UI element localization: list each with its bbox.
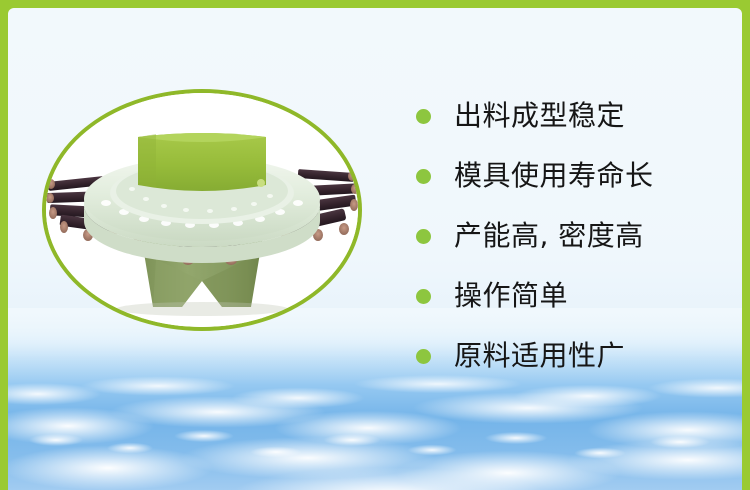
- product-photo: [46, 93, 358, 327]
- feature-label: 操作简单: [454, 281, 568, 311]
- bullet-dot-icon: [416, 169, 431, 184]
- feature-label: 模具使用寿命长: [454, 161, 654, 191]
- banner-content-panel: 出料成型稳定 模具使用寿命长 产能高, 密度高 操作简单 原料适用性广: [8, 8, 742, 490]
- feature-label: 出料成型稳定: [454, 101, 625, 131]
- pellet-mill-die-illustration: [46, 93, 358, 327]
- product-feature-banner: 出料成型稳定 模具使用寿命长 产能高, 密度高 操作简单 原料适用性广: [0, 0, 750, 490]
- feature-item: 操作简单: [416, 266, 736, 326]
- feature-item: 产能高, 密度高: [416, 206, 736, 266]
- feature-label: 原料适用性广: [454, 341, 625, 371]
- feature-list: 出料成型稳定 模具使用寿命长 产能高, 密度高 操作简单 原料适用性广: [416, 86, 736, 386]
- feature-item: 原料适用性广: [416, 326, 736, 386]
- bullet-dot-icon: [416, 229, 431, 244]
- product-image-ellipse: [42, 89, 362, 331]
- feature-item: 模具使用寿命长: [416, 146, 736, 206]
- feature-item: 出料成型稳定: [416, 86, 736, 146]
- bullet-dot-icon: [416, 289, 431, 304]
- feature-label: 产能高, 密度高: [454, 221, 644, 251]
- bullet-dot-icon: [416, 109, 431, 124]
- bullet-dot-icon: [416, 349, 431, 364]
